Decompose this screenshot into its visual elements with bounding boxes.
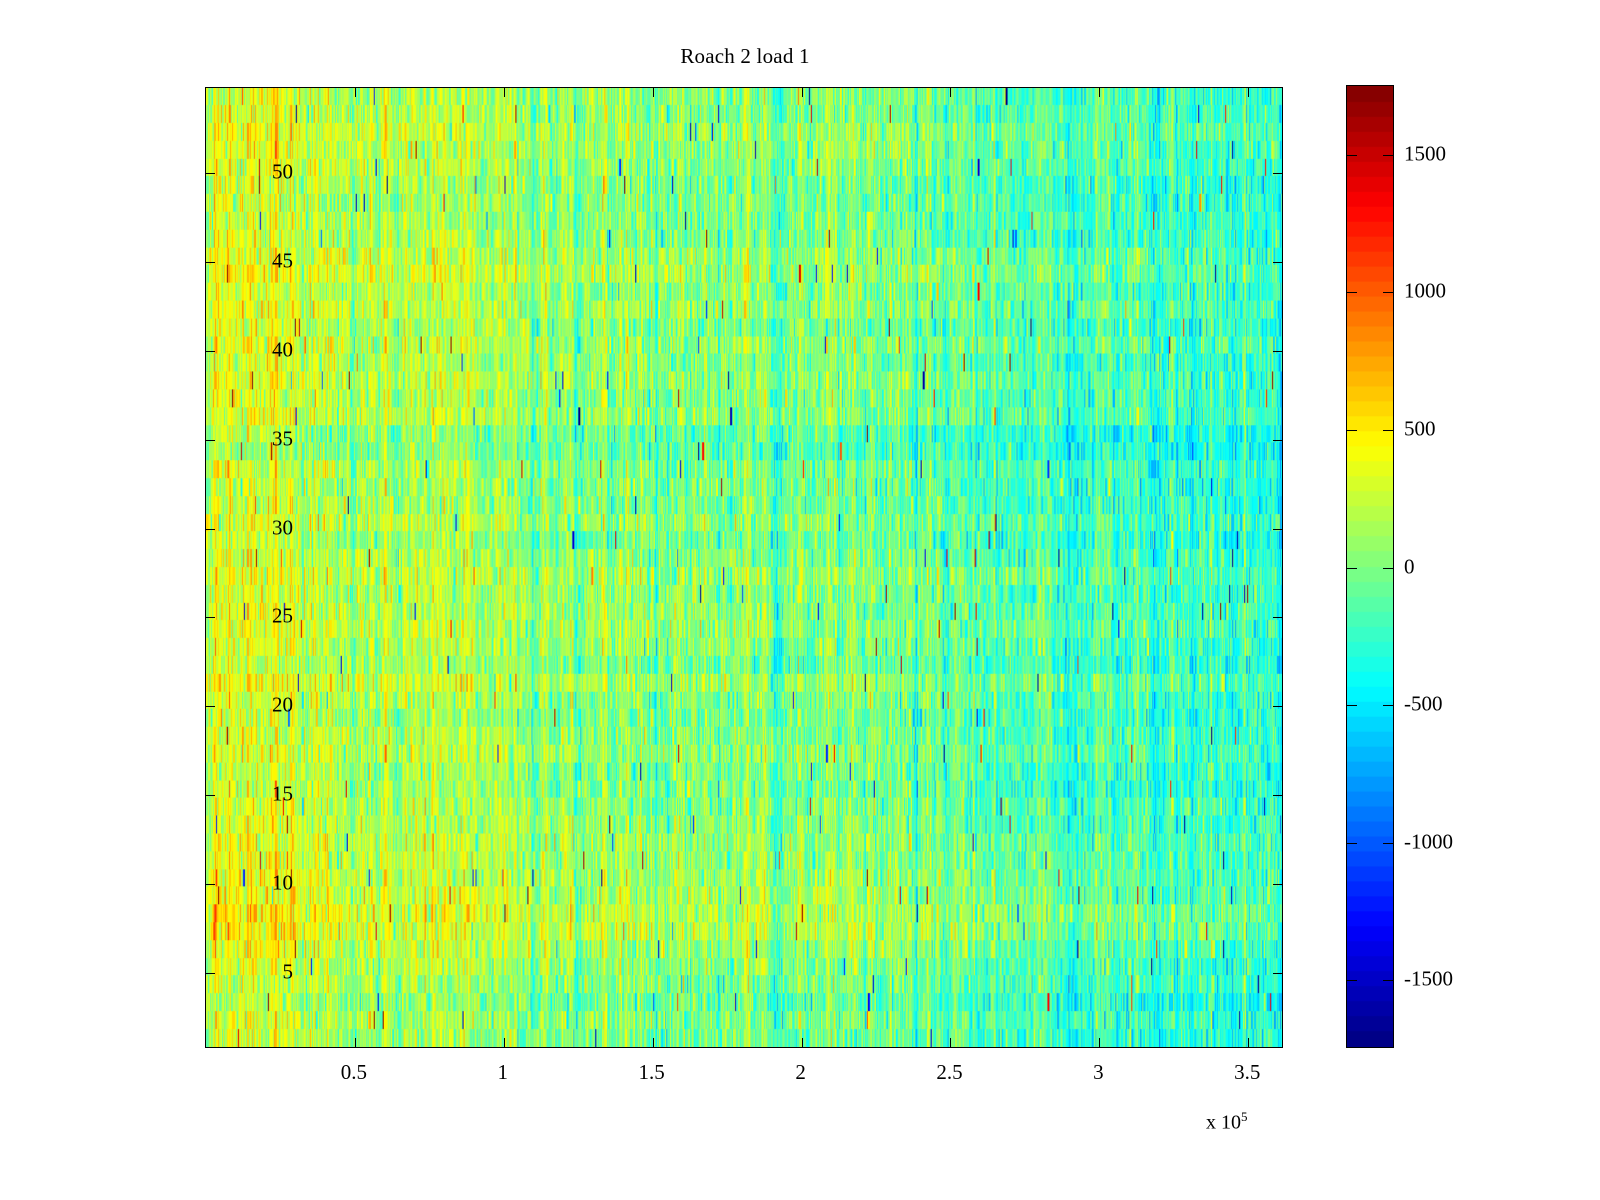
x-tick-mark (802, 1038, 803, 1047)
x-tick-label: 3 (1038, 1060, 1158, 1085)
colorbar-tick-mark (1347, 980, 1357, 981)
colorbar-tick-mark (1347, 155, 1357, 156)
x-tick-mark (1248, 1038, 1249, 1047)
colorbar-tick-label: -1500 (1404, 967, 1453, 992)
y-tick-label: 5 (213, 959, 293, 984)
y-tick-label: 35 (213, 426, 293, 451)
x-tick-mark (1099, 1038, 1100, 1047)
x-tick-mark (504, 1038, 505, 1047)
y-tick-label: 30 (213, 515, 293, 540)
y-tick-mark (1273, 529, 1282, 530)
x-tick-mark (653, 1038, 654, 1047)
heatmap-image (206, 88, 1282, 1047)
y-tick-mark (1273, 173, 1282, 174)
x-tick-mark (802, 88, 803, 97)
x-tick-label: 1.5 (592, 1060, 712, 1085)
x-tick-mark (355, 88, 356, 97)
y-tick-label: 15 (213, 781, 293, 806)
colorbar-tick-label: -1000 (1404, 829, 1453, 854)
colorbar-tick-mark (1383, 430, 1393, 431)
heatmap-axes[interactable] (205, 87, 1283, 1048)
x-tick-mark (1099, 88, 1100, 97)
x-tick-label: 2.5 (889, 1060, 1009, 1085)
x-tick-mark (355, 1038, 356, 1047)
x-tick-mark (504, 88, 505, 97)
colorbar-tick-label: 0 (1404, 554, 1415, 579)
y-tick-mark (1273, 440, 1282, 441)
x-axis-exponent-label: x 105 (1206, 1109, 1248, 1135)
y-tick-label: 40 (213, 337, 293, 362)
y-tick-label: 10 (213, 870, 293, 895)
x-axis-exponent-value: 5 (1241, 1109, 1248, 1124)
y-tick-mark (1273, 706, 1282, 707)
y-tick-mark (1273, 351, 1282, 352)
page-title: Roach 2 load 1 (0, 44, 1490, 69)
colorbar-tick-mark (1347, 705, 1357, 706)
x-axis-multiplier-text: x 10 (1206, 1112, 1241, 1134)
y-tick-mark (1273, 262, 1282, 263)
y-tick-label: 25 (213, 604, 293, 629)
x-tick-mark (950, 88, 951, 97)
colorbar-tick-mark (1347, 430, 1357, 431)
colorbar-tick-mark (1383, 705, 1393, 706)
colorbar-tick-mark (1347, 843, 1357, 844)
x-tick-label: 2 (741, 1060, 861, 1085)
colorbar-tick-mark (1383, 980, 1393, 981)
colorbar-tick-mark (1383, 843, 1393, 844)
colorbar-tick-mark (1383, 568, 1393, 569)
y-tick-label: 45 (213, 249, 293, 274)
colorbar-tick-mark (1347, 568, 1357, 569)
colorbar-tick-label: -500 (1404, 692, 1443, 717)
matlab-figure: Roach 2 load 1 5101520253035404550 0.511… (0, 0, 1600, 1200)
colorbar-tick-label: 1500 (1404, 141, 1446, 166)
x-tick-mark (950, 1038, 951, 1047)
y-tick-label: 20 (213, 693, 293, 718)
colorbar-tick-mark (1383, 292, 1393, 293)
x-tick-mark (1248, 88, 1249, 97)
colorbar-gradient (1347, 86, 1393, 1047)
colorbar-tick-label: 1000 (1404, 279, 1446, 304)
x-tick-label: 3.5 (1187, 1060, 1307, 1085)
colorbar[interactable] (1346, 85, 1394, 1048)
colorbar-tick-label: 500 (1404, 416, 1436, 441)
y-tick-mark (1273, 617, 1282, 618)
x-tick-label: 1 (443, 1060, 563, 1085)
y-tick-label: 50 (213, 160, 293, 185)
x-tick-label: 0.5 (294, 1060, 414, 1085)
y-tick-mark (1273, 884, 1282, 885)
colorbar-tick-mark (1383, 155, 1393, 156)
y-tick-mark (1273, 795, 1282, 796)
colorbar-tick-mark (1347, 292, 1357, 293)
x-tick-mark (653, 88, 654, 97)
y-tick-mark (1273, 973, 1282, 974)
